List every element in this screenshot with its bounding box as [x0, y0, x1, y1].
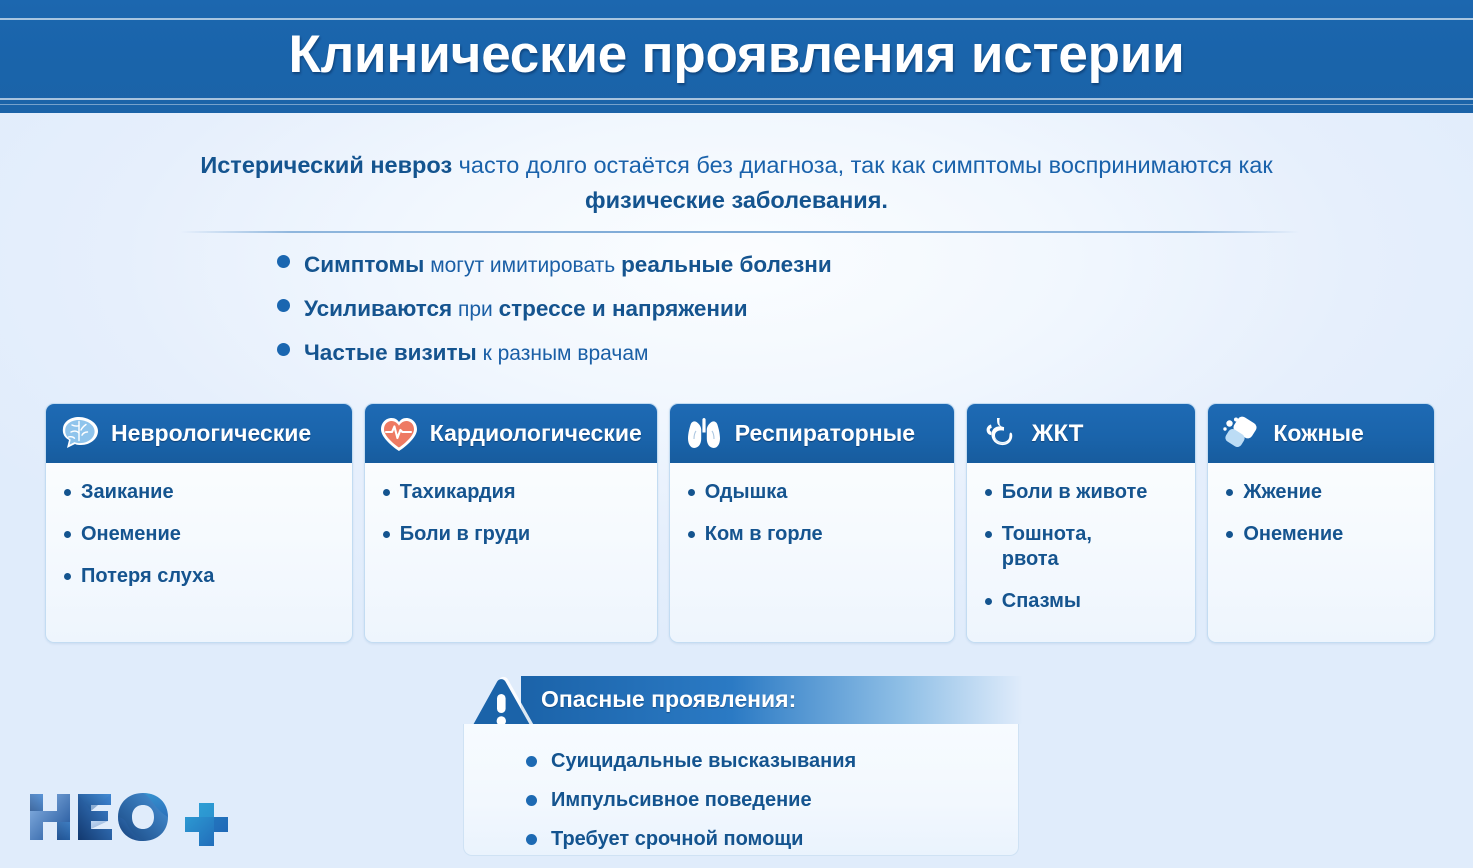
bullet-dot-icon: [1226, 489, 1233, 496]
list-item: Усиливаются при стрессе и напряжении: [277, 296, 832, 340]
card-skin: Кожные Жжение Онемение: [1207, 403, 1435, 643]
intro-emphasis: физические заболевания.: [585, 187, 888, 213]
bullet-dot-icon: [277, 343, 290, 356]
symptom-label: Потеря слуха: [81, 564, 214, 589]
list-item: Жжение: [1222, 480, 1424, 505]
bullet-dot-icon: [526, 756, 537, 767]
key-point-strong2: стрессе и напряжении: [499, 296, 748, 321]
danger-panel-body: Суицидальные высказывания Импульсивное п…: [463, 724, 1019, 856]
danger-item-label: Требует срочной помощи: [551, 828, 803, 851]
list-item: Потеря слуха: [60, 564, 342, 589]
stomach-icon: [979, 414, 1023, 454]
list-item: Боли в животе: [981, 480, 1186, 505]
bullet-dot-icon: [985, 531, 992, 538]
card-title: Респираторные: [735, 420, 915, 447]
bullet-dot-icon: [526, 834, 537, 845]
symptom-label: Ком в горле: [705, 522, 823, 547]
list-item: Импульсивное поведение: [526, 781, 1018, 820]
list-item: Частые визиты к разным врачам: [277, 340, 832, 384]
banner-rule-bottom-thin: [0, 104, 1473, 105]
list-item: Спазмы: [981, 589, 1186, 614]
symptom-label: Боли в животе: [1002, 480, 1148, 505]
card-body: Боли в животе Тошнота, рвота Спазмы: [967, 463, 1196, 642]
card-header: Кожные: [1208, 404, 1434, 463]
card-body: Одышка Ком в горле: [670, 463, 954, 642]
symptom-label: Спазмы: [1002, 589, 1081, 614]
symptom-label: Тахикардия: [400, 480, 516, 505]
list-item: Одышка: [684, 480, 944, 505]
key-point-strong: Симптомы: [304, 252, 424, 277]
bullet-dot-icon: [1226, 531, 1233, 538]
skin-patch-icon: [1220, 414, 1264, 454]
list-item: Заикание: [60, 480, 342, 505]
card-title: Неврологические: [111, 420, 311, 447]
list-item: Онемение: [60, 522, 342, 547]
brain-icon: [58, 414, 102, 454]
page-title: Клинические проявления истерии: [0, 24, 1473, 85]
bullet-dot-icon: [526, 795, 537, 806]
symptom-label: Жжение: [1243, 480, 1322, 505]
card-cardiological: Кардиологические Тахикардия Боли в груди: [364, 403, 658, 643]
symptom-label: Тошнота, рвота: [1002, 522, 1147, 572]
card-gastrointestinal: ЖКТ Боли в животе Тошнота, рвота Спазмы: [966, 403, 1197, 643]
banner-rule-top: [0, 18, 1473, 20]
card-header: Кардиологические: [365, 404, 657, 463]
banner-rule-bottom: [0, 98, 1473, 100]
list-item: Боли в груди: [379, 522, 647, 547]
lungs-icon: [682, 414, 726, 454]
list-item: Тошнота, рвота: [981, 522, 1186, 572]
card-header: ЖКТ: [967, 404, 1196, 463]
symptom-label: Онемение: [81, 522, 181, 547]
infographic-page: Клинические проявления истерии Истеричес…: [0, 0, 1473, 868]
card-header: Респираторные: [670, 404, 954, 463]
card-respiratory: Респираторные Одышка Ком в горле: [669, 403, 955, 643]
symptom-label: Боли в груди: [400, 522, 530, 547]
card-body: Жжение Онемение: [1208, 463, 1434, 642]
list-item: Симптомы могут имитировать реальные боле…: [277, 252, 832, 296]
symptom-label: Онемение: [1243, 522, 1343, 547]
list-item: Требует срочной помощи: [526, 820, 1018, 859]
card-body: Заикание Онемение Потеря слуха: [46, 463, 352, 642]
danger-panel: Опасные проявления: Суицидальные высказы…: [463, 676, 1023, 868]
key-point-normal: к разным врачам: [477, 342, 649, 365]
key-point-normal: при: [452, 298, 498, 321]
header-banner: Клинические проявления истерии: [0, 0, 1473, 113]
list-item: Ком в горле: [684, 522, 944, 547]
brand-logo: НЕО+: [22, 786, 257, 848]
intro-lead: Истерический невроз: [200, 152, 452, 178]
key-point-strong: Частые визиты: [304, 340, 477, 365]
bullet-dot-icon: [688, 489, 695, 496]
section-divider: [180, 231, 1300, 233]
symptom-category-cards: Неврологические Заикание Онемение Потеря…: [45, 403, 1435, 643]
card-title: Кардиологические: [430, 420, 642, 447]
bullet-dot-icon: [277, 299, 290, 312]
card-header: Неврологические: [46, 404, 352, 463]
key-point-normal: могут имитировать: [424, 254, 621, 277]
danger-item-label: Суицидальные высказывания: [551, 750, 856, 773]
symptom-label: Заикание: [81, 480, 174, 505]
bullet-dot-icon: [985, 489, 992, 496]
list-item: Тахикардия: [379, 480, 647, 505]
bullet-dot-icon: [383, 489, 390, 496]
card-body: Тахикардия Боли в груди: [365, 463, 657, 642]
danger-panel-header: Опасные проявления:: [521, 676, 1023, 724]
heart-ecg-icon: [377, 414, 421, 454]
bullet-dot-icon: [688, 531, 695, 538]
bullet-dot-icon: [64, 573, 71, 580]
key-point-strong: Усиливаются: [304, 296, 452, 321]
card-neurological: Неврологические Заикание Онемение Потеря…: [45, 403, 353, 643]
symptom-label: Одышка: [705, 480, 788, 505]
danger-panel-title: Опасные проявления:: [541, 686, 796, 713]
danger-item-label: Импульсивное поведение: [551, 789, 812, 812]
bullet-dot-icon: [383, 531, 390, 538]
bullet-dot-icon: [64, 531, 71, 538]
card-title: Кожные: [1273, 420, 1363, 447]
card-title: ЖКТ: [1032, 420, 1084, 448]
key-points-list: Симптомы могут имитировать реальные боле…: [277, 252, 832, 384]
intro-paragraph: Истерический невроз часто долго остаётся…: [140, 148, 1333, 218]
list-item: Суицидальные высказывания: [526, 742, 1018, 781]
key-point-strong2: реальные болезни: [621, 252, 832, 277]
bullet-dot-icon: [985, 598, 992, 605]
bullet-dot-icon: [277, 255, 290, 268]
list-item: Онемение: [1222, 522, 1424, 547]
bullet-dot-icon: [64, 489, 71, 496]
intro-middle: часто долго остаётся без диагноза, так к…: [452, 152, 1273, 178]
